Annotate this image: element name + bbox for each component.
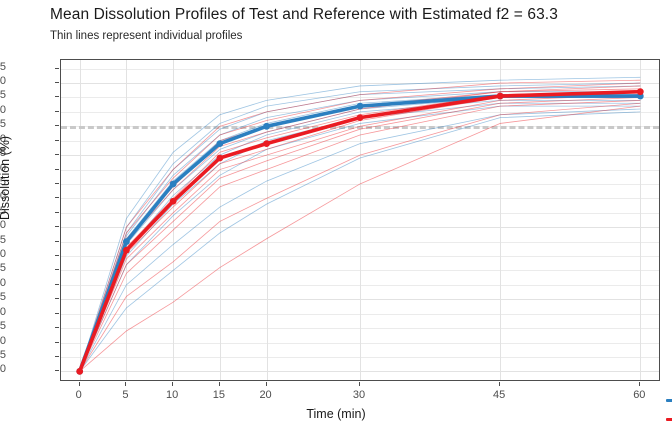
y-tick-mark-5 xyxy=(55,356,59,357)
x-tick-mark-15 xyxy=(219,382,220,386)
y-tick-mark-25 xyxy=(55,298,59,299)
data-point-r-30 xyxy=(357,103,364,110)
data-point-r-5 xyxy=(123,238,130,245)
individual-profile-t-14 xyxy=(80,86,641,371)
plot-lines xyxy=(61,60,659,380)
y-tick-label-45: 45 xyxy=(0,234,6,246)
y-tick-mark-10 xyxy=(55,342,59,343)
mean-line-r xyxy=(80,96,641,371)
x-tick-mark-45 xyxy=(499,382,500,386)
y-tick-mark-15 xyxy=(55,327,59,328)
y-tick-label-35: 35 xyxy=(0,262,6,274)
x-axis-label: Time (min) xyxy=(0,407,672,421)
y-tick-mark-80 xyxy=(55,140,59,141)
individual-profile-r-3 xyxy=(80,92,641,372)
individual-profile-t-18 xyxy=(80,95,641,372)
y-tick-label-30: 30 xyxy=(0,277,6,289)
y-tick-label-20: 20 xyxy=(0,306,6,318)
individual-profile-r-11 xyxy=(80,112,641,371)
x-tick-mark-60 xyxy=(639,382,640,386)
y-tick-mark-65 xyxy=(55,183,59,184)
individual-profile-t-19 xyxy=(80,95,641,372)
data-point-r-20 xyxy=(263,123,270,130)
y-axis-label: Dissolution (%) xyxy=(0,136,12,220)
y-tick-mark-90 xyxy=(55,111,59,112)
y-tick-label-0: 0 xyxy=(0,363,6,375)
y-tick-mark-20 xyxy=(55,313,59,314)
individual-profile-t-16 xyxy=(80,92,641,372)
y-tick-mark-70 xyxy=(55,169,59,170)
individual-profile-r-2 xyxy=(80,86,641,371)
y-tick-mark-45 xyxy=(55,241,59,242)
y-tick-label-85: 85 xyxy=(0,118,6,130)
individual-profile-r-10 xyxy=(80,109,641,371)
y-tick-label-25: 25 xyxy=(0,291,6,303)
individual-profile-r-0 xyxy=(80,77,641,371)
individual-profile-r-4 xyxy=(80,95,641,372)
y-tick-mark-60 xyxy=(55,197,59,198)
y-tick-mark-85 xyxy=(55,125,59,126)
y-tick-mark-30 xyxy=(55,284,59,285)
data-point-t-45 xyxy=(497,93,504,100)
individual-profile-r-6 xyxy=(80,97,641,371)
chart-title: Mean Dissolution Profiles of Test and Re… xyxy=(50,6,558,24)
data-point-t-30 xyxy=(357,114,364,121)
data-point-t-10 xyxy=(170,198,177,205)
chart-root: Mean Dissolution Profiles of Test and Re… xyxy=(0,0,672,432)
y-tick-label-90: 90 xyxy=(0,104,6,116)
plot-panel: R T xyxy=(60,59,660,381)
y-tick-mark-55 xyxy=(55,212,59,213)
data-point-t-60 xyxy=(637,88,644,95)
data-point-r-10 xyxy=(170,181,177,188)
y-tick-mark-40 xyxy=(55,255,59,256)
x-tick-label-30: 30 xyxy=(329,389,389,401)
x-tick-label-60: 60 xyxy=(609,389,669,401)
y-tick-label-100: 100 xyxy=(0,75,6,87)
y-tick-mark-100 xyxy=(55,82,59,83)
y-tick-mark-105 xyxy=(55,68,59,69)
y-tick-label-10: 10 xyxy=(0,335,6,347)
x-tick-label-20: 20 xyxy=(236,389,296,401)
y-tick-label-40: 40 xyxy=(0,248,6,260)
x-tick-mark-0 xyxy=(79,382,80,386)
data-point-t-15 xyxy=(216,155,223,162)
y-tick-label-5: 5 xyxy=(0,349,6,361)
y-tick-label-15: 15 xyxy=(0,320,6,332)
x-tick-label-45: 45 xyxy=(469,389,529,401)
y-tick-mark-50 xyxy=(55,226,59,227)
data-point-t-0 xyxy=(76,368,83,375)
y-tick-mark-75 xyxy=(55,154,59,155)
y-tick-mark-95 xyxy=(55,96,59,97)
x-tick-mark-20 xyxy=(266,382,267,386)
y-tick-mark-35 xyxy=(55,269,59,270)
y-tick-label-95: 95 xyxy=(0,89,6,101)
individual-profile-r-7 xyxy=(80,100,641,371)
mean-line-t xyxy=(80,92,641,372)
individual-profile-t-17 xyxy=(80,92,641,372)
y-tick-mark-0 xyxy=(55,370,59,371)
chart-subtitle: Thin lines represent individual profiles xyxy=(50,30,242,42)
x-tick-mark-10 xyxy=(172,382,173,386)
x-tick-mark-5 xyxy=(125,382,126,386)
y-tick-label-50: 50 xyxy=(0,219,6,231)
x-tick-mark-30 xyxy=(359,382,360,386)
individual-profile-t-20 xyxy=(80,97,641,371)
individual-profile-r-5 xyxy=(80,97,641,371)
data-point-t-5 xyxy=(123,247,130,254)
individual-profile-t-21 xyxy=(80,100,641,371)
data-point-t-20 xyxy=(263,140,270,147)
y-tick-label-105: 105 xyxy=(0,61,6,73)
data-point-r-15 xyxy=(216,140,223,147)
